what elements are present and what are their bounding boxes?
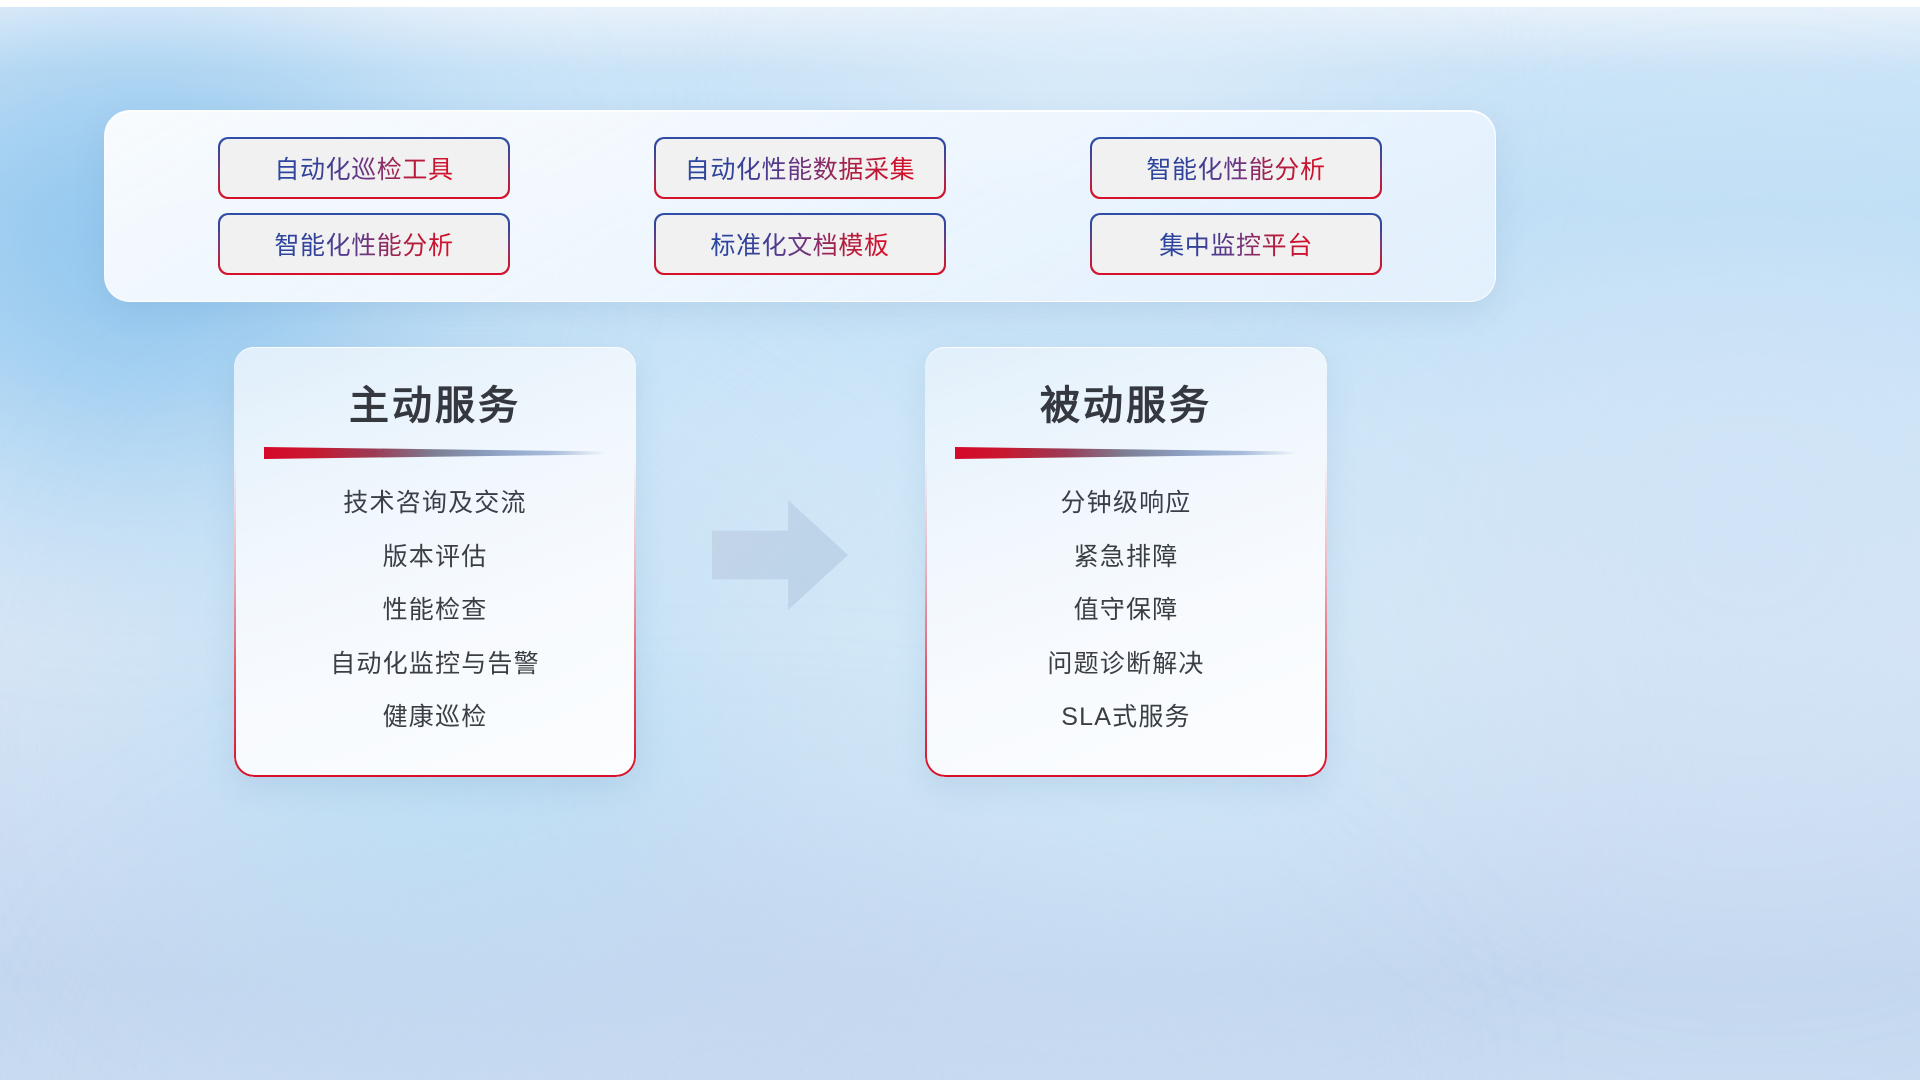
capability-pill-5-inner: 标准化文档模板 [656,215,945,274]
top-white-strip [0,0,1920,7]
capability-pill-6-label: 集中监控平台 [1159,226,1313,262]
capability-pill-1-label: 自动化巡检工具 [274,150,453,186]
service-card-reactive-title: 被动服务 [953,381,1299,431]
service-card-proactive-divider [264,447,606,461]
capability-pill-6-inner: 集中监控平台 [1092,215,1381,274]
capability-pill-1[interactable]: 自动化巡检工具 [218,137,510,199]
service-card-reactive-list: 分钟级响应 紧急排障 值守保障 问题诊断解决 SLA式服务 [953,477,1299,745]
service-card-proactive[interactable]: 主动服务 技术咨询及交流 版本评估 性能检查 自动化监控与告警 健康巡检 [234,347,636,777]
capability-pill-3-label: 智能化性能分析 [1146,150,1325,186]
list-item: 自动化监控与告警 [262,638,608,692]
service-card-proactive-title: 主动服务 [262,381,608,431]
gradient-wedge-icon [955,447,1297,459]
list-item: 健康巡检 [262,691,608,745]
service-card-reactive-divider [955,447,1297,461]
list-item: 分钟级响应 [953,477,1299,531]
list-item: 值守保障 [953,584,1299,638]
list-item: 版本评估 [262,531,608,585]
service-card-reactive[interactable]: 被动服务 分钟级响应 紧急排障 值守保障 问题诊断解决 SLA式服务 [925,347,1327,777]
list-item: 紧急排障 [953,531,1299,585]
list-item: 问题诊断解决 [953,638,1299,692]
capability-pill-3-inner: 智能化性能分析 [1092,139,1381,198]
capability-pill-1-inner: 自动化巡检工具 [220,139,509,198]
list-item: 技术咨询及交流 [262,477,608,531]
list-item: 性能检查 [262,584,608,638]
capability-pill-2[interactable]: 自动化性能数据采集 [654,137,946,199]
capability-pill-2-label: 自动化性能数据采集 [685,150,915,186]
capability-pill-6[interactable]: 集中监控平台 [1090,213,1382,275]
capability-pill-5-label: 标准化文档模板 [710,226,889,262]
capability-pill-3[interactable]: 智能化性能分析 [1090,137,1382,199]
capability-pill-4[interactable]: 智能化性能分析 [218,213,510,275]
gradient-wedge-icon [264,447,606,459]
capability-pill-5[interactable]: 标准化文档模板 [654,213,946,275]
service-card-proactive-list: 技术咨询及交流 版本评估 性能检查 自动化监控与告警 健康巡检 [262,477,608,745]
capability-pill-2-inner: 自动化性能数据采集 [656,139,945,198]
slide-canvas: 自动化巡检工具 自动化性能数据采集 智能化性能分析 智能化性能分析 标准化文档模… [0,0,1920,1080]
capability-pill-4-label: 智能化性能分析 [274,226,453,262]
capability-panel: 自动化巡检工具 自动化性能数据采集 智能化性能分析 智能化性能分析 标准化文档模… [104,110,1496,302]
capability-pill-4-inner: 智能化性能分析 [220,215,509,274]
list-item: SLA式服务 [953,691,1299,745]
